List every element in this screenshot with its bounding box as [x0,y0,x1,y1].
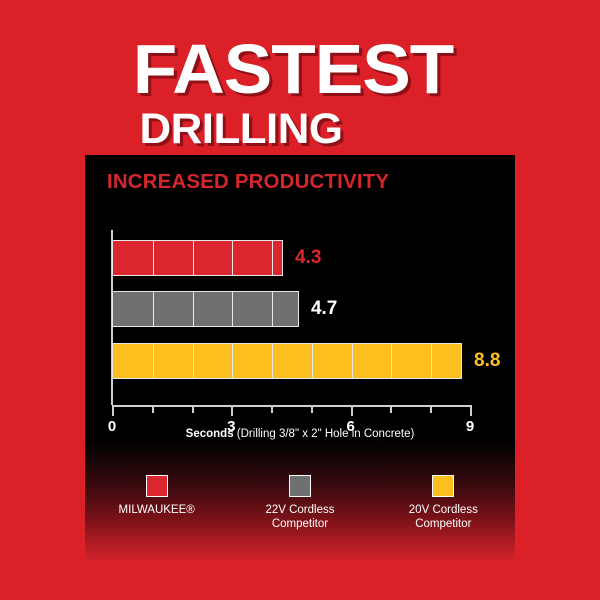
bar-row: 8.8 [112,343,462,379]
legend-item-3: 20V Cordless Competitor [383,475,503,532]
bar-segment-dividers [113,241,282,275]
x-axis-caption: Seconds (Drilling 3/8" x 2" Hole in Conc… [85,428,515,440]
x-tick-minor [271,405,273,413]
bar-2 [112,291,299,327]
bar-1 [112,240,283,276]
x-tick-major [112,405,114,416]
legend-swatch [289,475,311,497]
headline: FASTEST DRILLING [0,34,600,151]
chart-legend: MILWAUKEE®22V Cordless Competitor20V Cor… [85,475,515,532]
bar-3 [112,343,462,379]
x-tick-major [351,405,353,416]
x-tick-minor [390,405,392,413]
headline-secondary: DRILLING [0,108,600,151]
legend-label: MILWAUKEE® [97,503,217,517]
x-tick-minor [311,405,313,413]
bar-row: 4.3 [112,240,283,276]
legend-label: 22V Cordless Competitor [240,503,360,532]
legend-item-2: 22V Cordless Competitor [240,475,360,532]
x-axis-caption-bold: Seconds [186,428,234,440]
poster-root: FASTEST DRILLING INCREASED PRODUCTIVITY … [0,0,600,600]
x-tick-major [231,405,233,416]
legend-swatch [146,475,168,497]
legend-item-1: MILWAUKEE® [97,475,217,517]
plot-area: 4.34.78.8 0369 [112,240,470,405]
x-tick-major [470,405,472,416]
headline-primary: FASTEST [0,34,600,104]
x-axis-line: 0369 [112,405,470,407]
chart-panel: INCREASED PRODUCTIVITY 4.34.78.8 0369 Se… [85,155,515,560]
bar-value-label: 4.3 [295,247,321,269]
x-tick-minor [192,405,194,413]
bar-value-label: 8.8 [474,350,500,372]
legend-label: 20V Cordless Competitor [383,503,503,532]
x-tick-minor [430,405,432,413]
legend-swatch [432,475,454,497]
chart-title: INCREASED PRODUCTIVITY [107,171,389,194]
x-axis-caption-detail: (Drilling 3/8" x 2" Hole in Concrete) [237,428,415,440]
bar-segment-dividers [113,344,461,378]
x-tick-minor [152,405,154,413]
bar-row: 4.7 [112,291,299,327]
bar-value-label: 4.7 [311,298,337,320]
bar-segment-dividers [113,292,298,326]
